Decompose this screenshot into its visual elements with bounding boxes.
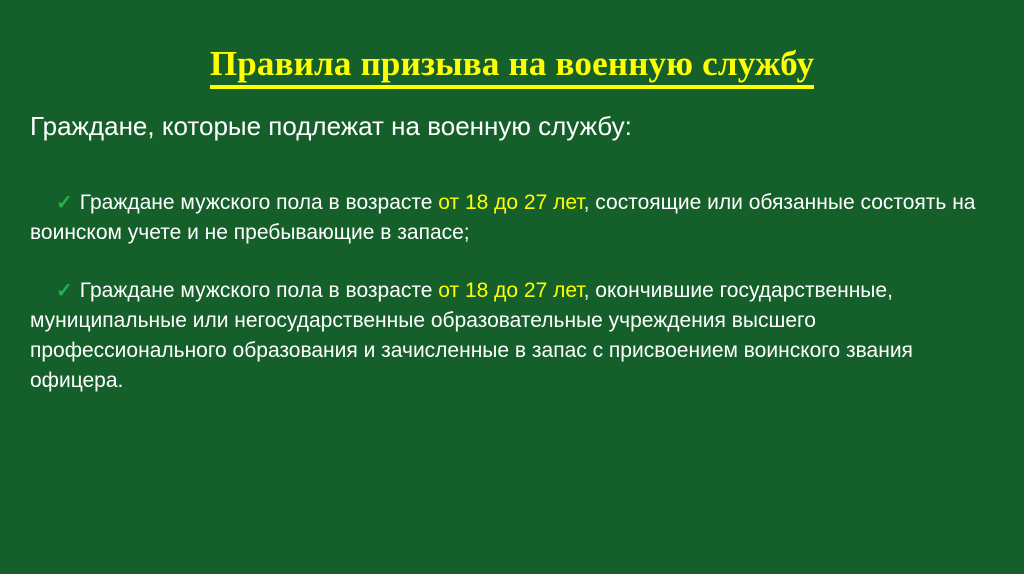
list-item: ✓Граждане мужского пола в возрасте от 18… [30, 188, 1005, 248]
slide-subtitle: Граждане, которые подлежат на военную сл… [30, 110, 990, 142]
body-text: Граждане мужского пола в возрасте [80, 191, 439, 214]
highlighted-text: от 18 до 27 лет [438, 279, 583, 302]
list-item: ✓Граждане мужского пола в возрасте от 18… [30, 276, 1005, 396]
check-mark-icon: ✓ [56, 281, 73, 301]
bullet-list: ✓Граждане мужского пола в возрасте от 18… [30, 188, 1005, 396]
body-text: Граждане мужского пола в возрасте [80, 279, 439, 302]
page-title: Правила призыва на военную службу [210, 44, 814, 89]
bullet-2-text: Граждане мужского пола в возрасте от 18 … [30, 279, 913, 392]
check-mark-icon: ✓ [56, 193, 73, 213]
title-container: Правила призыва на военную службу [0, 44, 1024, 89]
slide-canvas: Правила призыва на военную службу Гражда… [0, 0, 1024, 574]
bullet-1-text: Граждане мужского пола в возрасте от 18 … [30, 191, 975, 244]
highlighted-text: от 18 до 27 лет [438, 191, 583, 214]
